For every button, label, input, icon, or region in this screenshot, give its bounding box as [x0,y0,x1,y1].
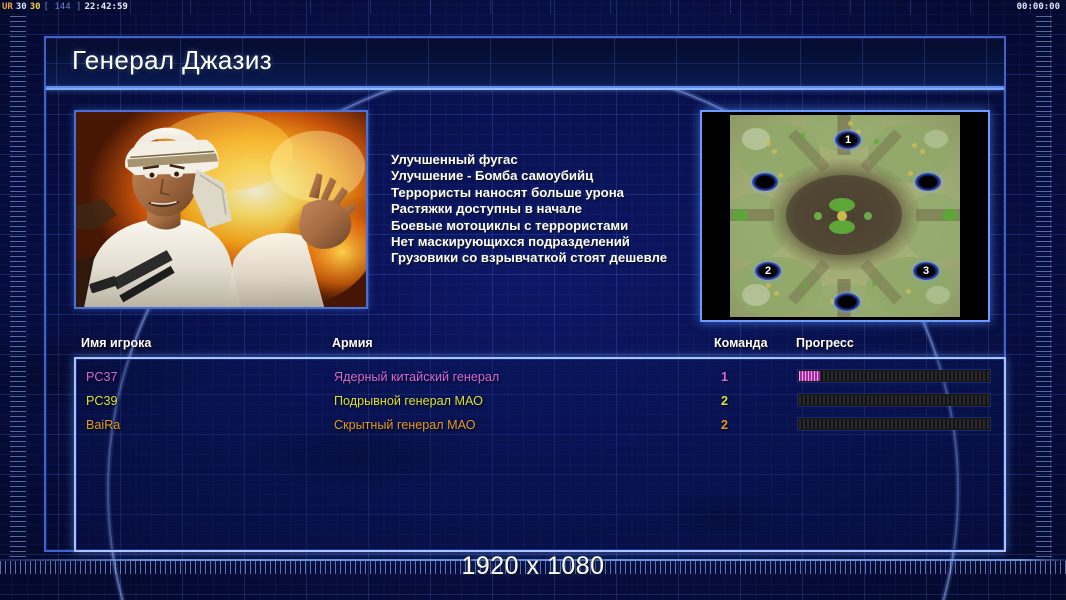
start-position-label: 2 [765,265,771,277]
loading-screen: UR 30 30 [ 144 ] 22:42:59 00:00:00 Генер… [0,0,1066,600]
minimap-start-position [915,173,941,191]
table-row: BaiRa Скрытный генерал МАО 2 [76,413,1004,437]
player-army: Подрывной генерал МАО [334,394,483,408]
player-army: Скрытный генерал МАО [334,418,476,432]
minimap-prop [774,291,779,296]
player-table-headers: Имя игрока Армия Команда Прогресс [46,336,1004,358]
minimap-prop [908,171,913,176]
description-line: Террористы наносят больше урона [391,185,731,201]
fps-bracket: [ 144 ] [44,0,82,14]
resolution-overlay: 1920 x 1080 [0,552,1066,581]
start-position-label: 3 [923,265,929,277]
page-title: Генерал Джазиз [72,45,272,76]
start-position-label: 1 [845,134,851,146]
title-underline [46,88,1004,90]
general-portrait [74,110,368,309]
top-status-bar: UR 30 30 [ 144 ] 22:42:59 00:00:00 [0,0,1066,14]
column-header-army: Армия [332,336,373,350]
info-row: Улучшенный фугас Улучшение - Бомба самоу… [46,96,1004,334]
player-name: BaiRa [86,418,120,432]
column-header-team: Команда [714,336,768,350]
minimap-start-position: 3 [913,262,939,280]
player-team: 1 [721,370,728,384]
minimap-prop [772,149,777,154]
player-progress-bar [798,370,990,382]
fps-value: 30 [16,0,27,14]
left-ruler [10,16,26,558]
minimap-start-position [834,293,860,311]
minimap-prop [848,121,853,126]
player-name: PC39 [86,394,118,408]
minimap-prop [766,141,771,146]
fps-label: UR [2,0,13,14]
description-line: Грузовики со взрывчаткой стоят дешевле [391,250,731,266]
fps-counter-group: UR 30 30 [ 144 ] 22:42:59 [2,0,128,14]
minimap-prop [872,281,877,286]
description-line: Боевые мотоциклы с террористами [391,218,731,234]
right-ruler [1036,16,1052,558]
minimap-start-position: 2 [755,262,781,280]
player-progress-bar [798,394,990,406]
minimap-start-position: 1 [835,131,861,149]
portrait-artwork [76,112,366,308]
description-line: Растяжки доступны в начале [391,201,731,217]
minimap-prop [920,149,925,154]
minimap-prop [778,173,783,178]
column-header-progress: Прогресс [796,336,854,350]
minimap-prop [800,133,805,138]
description-line: Нет маскирующихся подразделений [391,234,731,250]
fps-limit: 30 [30,0,41,14]
system-clock: 22:42:59 [84,0,127,14]
player-team: 2 [721,394,728,408]
table-row: PC37 Ядерный китайский генерал 1 [76,365,1004,389]
minimap-prop [906,289,911,294]
player-list: PC37 Ядерный китайский генерал 1 PC39 По… [74,357,1006,552]
table-row: PC39 Подрывной генерал МАО 2 [76,389,1004,413]
elapsed-timer: 00:00:00 [1017,0,1060,14]
description-line: Улучшенный фугас [391,152,731,168]
minimap-preview: 1 2 3 [700,110,990,322]
player-army: Ядерный китайский генерал [334,370,499,384]
minimap-prop [766,283,771,288]
title-bar: Генерал Джазиз [46,38,1004,88]
minimap-prop [912,143,917,148]
description-line: Улучшение - Бомба самоубийц [391,168,731,184]
player-team: 2 [721,418,728,432]
progress-fill [799,371,820,381]
player-progress-bar [798,418,990,430]
column-header-name: Имя игрока [81,336,151,350]
minimap-start-position [752,173,778,191]
general-description: Улучшенный фугас Улучшение - Бомба самоу… [391,152,731,267]
minimap-prop [802,283,807,288]
minimap-image: 1 2 3 [730,115,960,317]
player-name: PC37 [86,370,118,384]
minimap-prop [874,139,879,144]
